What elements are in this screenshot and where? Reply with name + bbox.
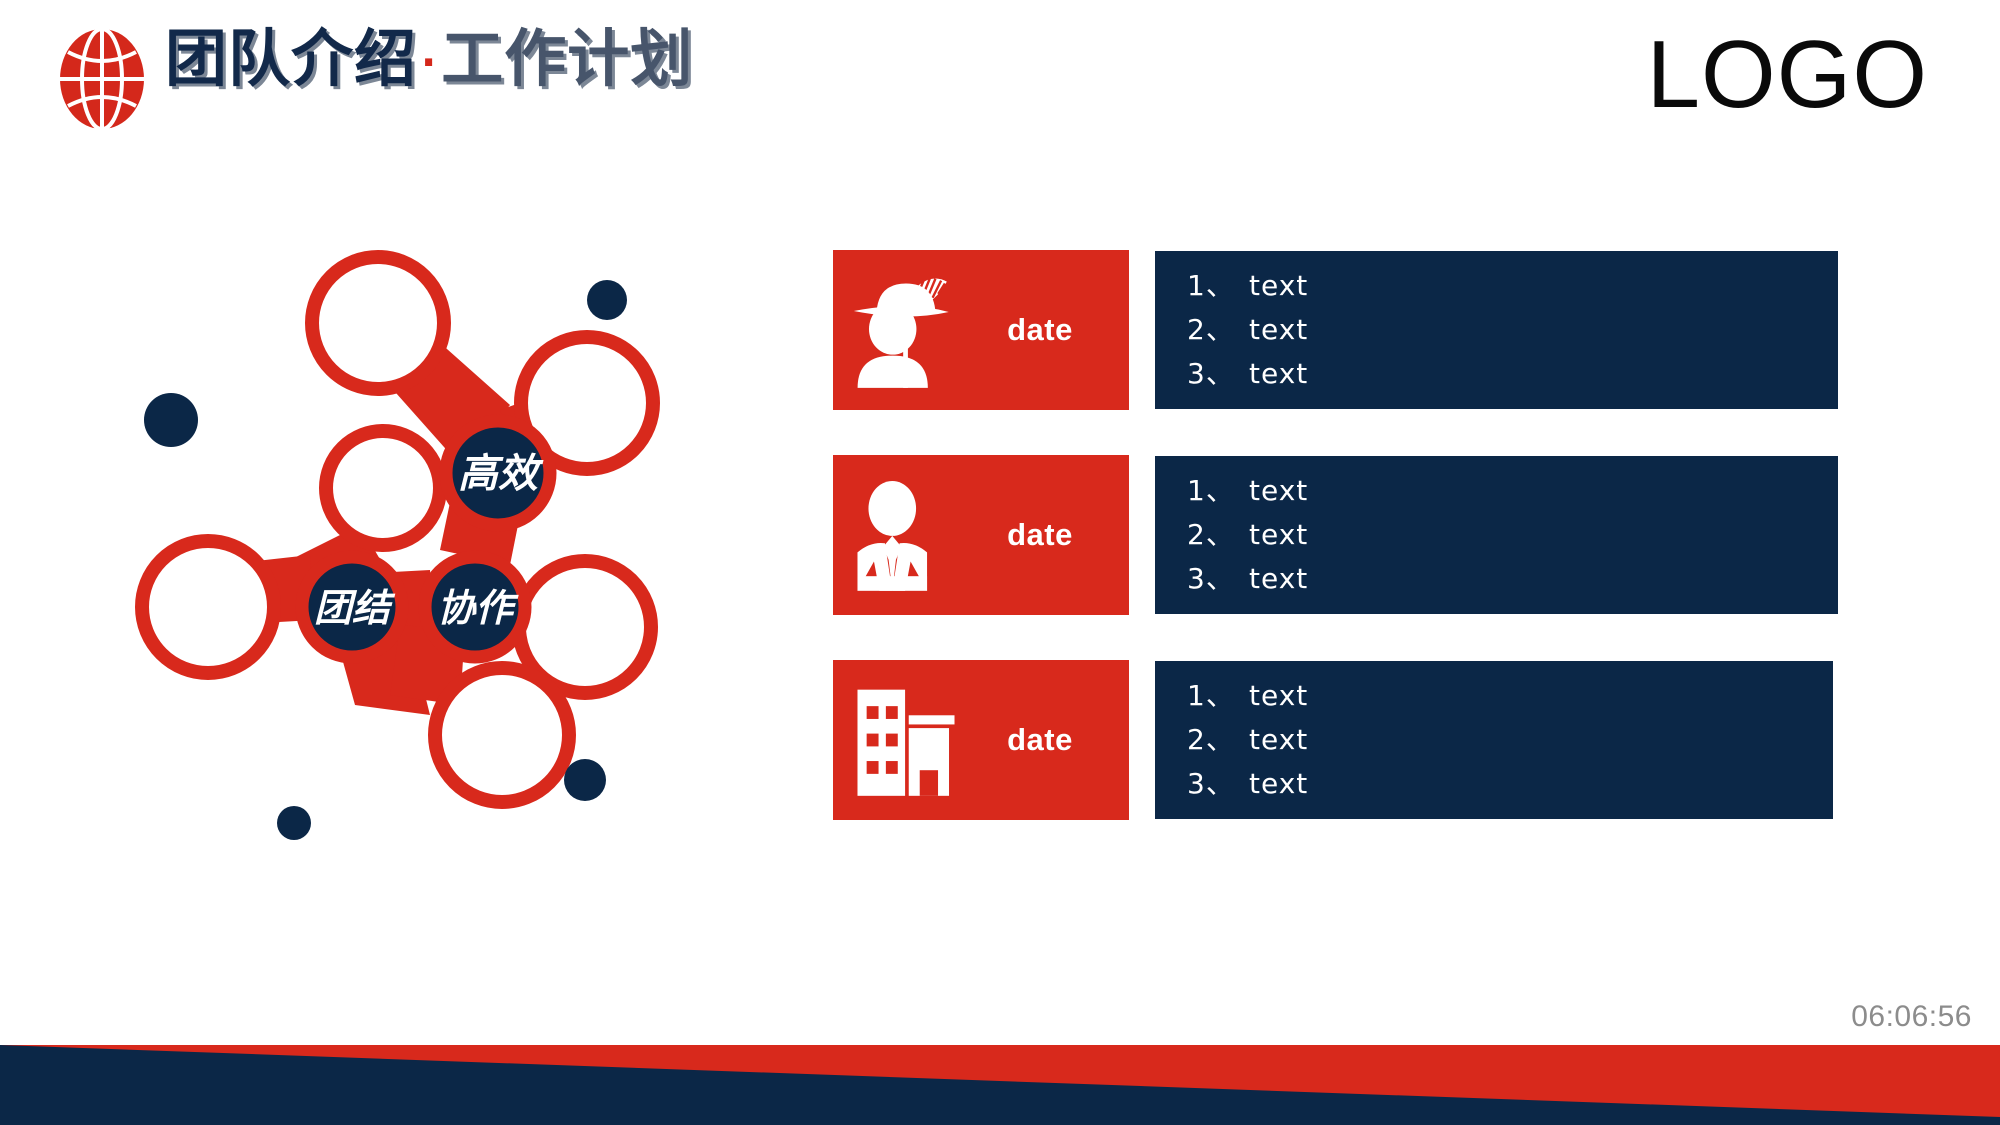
list-text: text [1249, 313, 1308, 346]
clock-timestamp: 06:06:56 [1851, 1000, 1972, 1034]
accent-dot-1 [587, 280, 627, 320]
bubble-node-empty-6 [435, 668, 569, 802]
list-text: text [1249, 518, 1308, 551]
globe-icon [48, 24, 156, 134]
list-index: 1、 [1187, 682, 1249, 710]
content-row: date 1、text 2、text 3、text [833, 250, 1843, 410]
list-item: 2、text [1155, 521, 1838, 549]
list-text: text [1249, 474, 1308, 507]
office-building-icon [847, 675, 965, 805]
text-panel-1: 1、text 2、text 3、text [1155, 251, 1838, 409]
list-item: 1、text [1155, 272, 1838, 300]
list-index: 1、 [1187, 477, 1249, 505]
list-item: 3、text [1155, 565, 1838, 593]
page-title-part1: 团队介绍 [165, 22, 417, 95]
date-card-1[interactable]: date [833, 250, 1129, 410]
list-text: text [1249, 723, 1308, 756]
list-text: text [1249, 679, 1308, 712]
text-panel-2: 1、text 2、text 3、text [1155, 456, 1838, 614]
bubble-node-empty-4 [142, 541, 274, 673]
list-index: 2、 [1187, 316, 1249, 344]
list-item: 1、text [1155, 682, 1833, 710]
worker-with-flag-icon [847, 265, 965, 395]
list-text: text [1249, 562, 1308, 595]
team-values-bubble-diagram: 高效 团结 协作 [130, 235, 790, 855]
text-panel-3: 1、text 2、text 3、text [1155, 661, 1833, 819]
accent-dot-2 [144, 393, 198, 447]
list-item: 2、text [1155, 726, 1833, 754]
list-text: text [1249, 357, 1308, 390]
bubble-node-empty-3 [326, 431, 440, 545]
list-index: 3、 [1187, 770, 1249, 798]
content-rows: date 1、text 2、text 3、text [833, 250, 1843, 860]
list-item: 3、text [1155, 770, 1833, 798]
date-label: date [965, 722, 1129, 758]
page-title: 团队介绍·工作计划 [165, 28, 693, 90]
accent-dot-4 [277, 806, 311, 840]
date-card-2[interactable]: date [833, 455, 1129, 615]
list-item: 2、text [1155, 316, 1838, 344]
list-text: text [1249, 767, 1308, 800]
businessman-icon [847, 470, 965, 600]
bubble-label-gaoxiao: 高效 [458, 451, 544, 497]
list-text: text [1249, 269, 1308, 302]
list-index: 3、 [1187, 360, 1249, 388]
bubble-label-tuanjie: 团结 [314, 586, 396, 630]
date-label: date [965, 312, 1129, 348]
footer-decoration [0, 1045, 2000, 1125]
list-index: 2、 [1187, 521, 1249, 549]
date-label: date [965, 517, 1129, 553]
list-index: 3、 [1187, 565, 1249, 593]
slide-header: 团队介绍·工作计划 LOGO [0, 0, 2000, 150]
list-item: 3、text [1155, 360, 1838, 388]
page-title-separator: · [417, 40, 441, 86]
list-item: 1、text [1155, 477, 1838, 505]
bubble-node-empty-1 [312, 257, 444, 389]
content-row: date 1、text 2、text 3、text [833, 660, 1843, 820]
logo-placeholder: LOGO [1647, 22, 1928, 128]
list-index: 2、 [1187, 726, 1249, 754]
list-index: 1、 [1187, 272, 1249, 300]
bubble-label-xiezuo: 协作 [437, 586, 519, 630]
date-card-3[interactable]: date [833, 660, 1129, 820]
page-title-part2: 工作计划 [441, 22, 693, 95]
slide-root: 团队介绍·工作计划 LOGO [0, 0, 2000, 1125]
content-row: date 1、text 2、text 3、text [833, 455, 1843, 615]
accent-dot-3 [564, 759, 606, 801]
